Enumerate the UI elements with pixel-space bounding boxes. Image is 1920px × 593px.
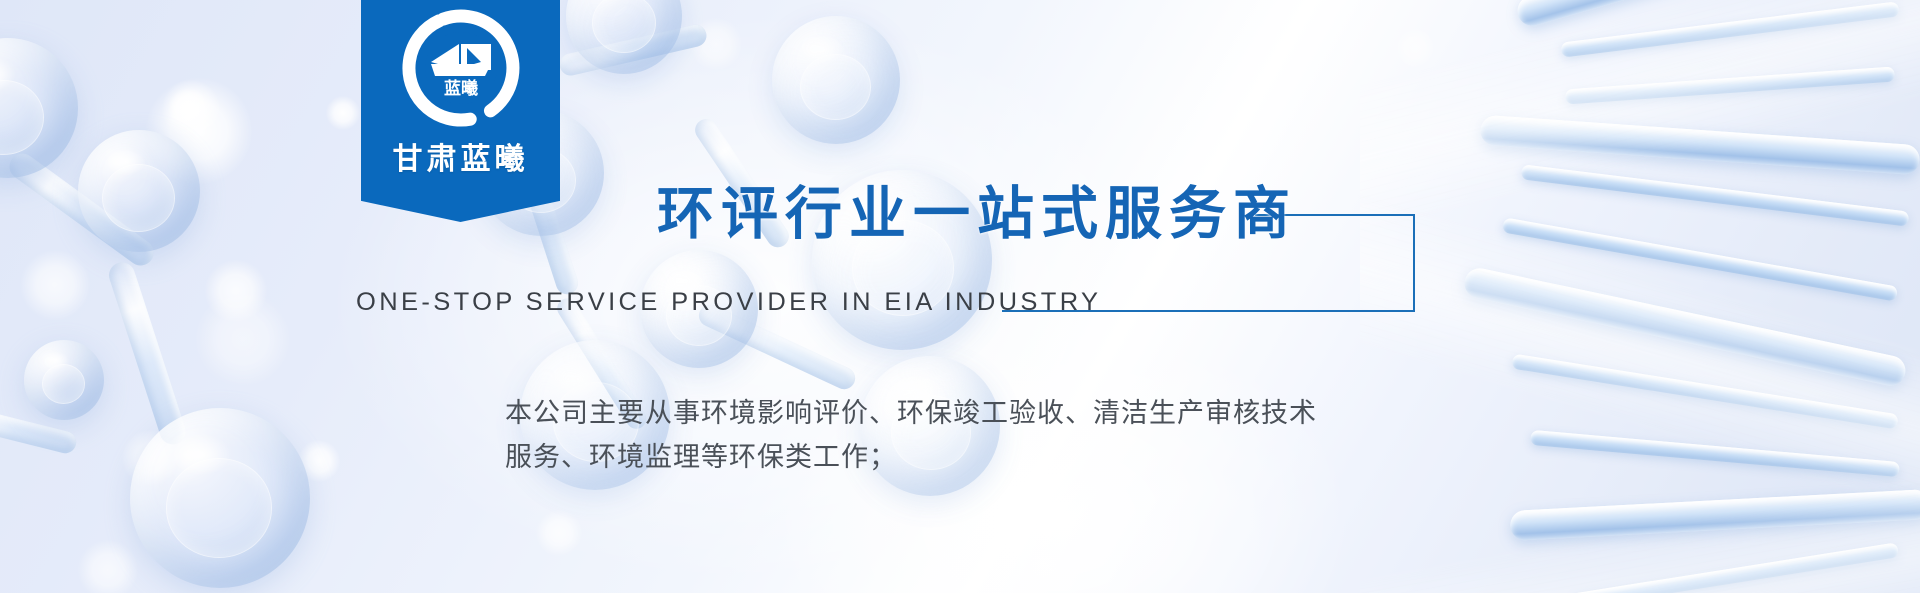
- light-bokeh: [1020, 540, 1068, 588]
- light-bokeh: [1395, 28, 1435, 68]
- light-bokeh: [326, 96, 360, 130]
- hero-body-text: 本公司主要从事环境影响评价、环保竣工验收、清洁生产审核技术 服务、环境监理等环保…: [505, 392, 1465, 479]
- light-bokeh: [162, 80, 220, 138]
- light-bokeh: [168, 88, 208, 128]
- light-bokeh: [205, 260, 267, 322]
- glass-molecule: [24, 340, 104, 420]
- light-bokeh: [298, 440, 340, 482]
- light-bokeh: [536, 510, 582, 556]
- hero-body-line: 本公司主要从事环境影响评价、环保竣工验收、清洁生产审核技术: [505, 392, 1465, 436]
- company-name: 甘肃蓝曦: [393, 134, 529, 178]
- decoration-line-right: [1413, 214, 1415, 312]
- hero-banner: 蓝曦 甘肃蓝曦 环评行业一站式服务商 ONE-STOP SERVICE PROV…: [0, 0, 1920, 593]
- light-bokeh: [20, 250, 90, 320]
- light-bokeh: [690, 18, 742, 70]
- molecule-bond: [558, 23, 709, 78]
- glass-molecule: [566, 0, 682, 74]
- light-bokeh: [196, 292, 290, 386]
- emblem-text: 蓝曦: [444, 78, 478, 99]
- glass-molecule: [772, 16, 900, 144]
- light-bokeh: [78, 540, 138, 593]
- lanxi-emblem-icon: 蓝曦: [401, 8, 521, 128]
- hero-subheadline-en: ONE-STOP SERVICE PROVIDER IN EIA INDUSTR…: [356, 288, 1101, 317]
- dna-helix: [1360, 0, 1920, 593]
- hero-body-line: 服务、环境监理等环保类工作；: [505, 436, 1465, 480]
- molecule-bond: [106, 259, 189, 448]
- light-bokeh: [146, 78, 252, 184]
- molecule-bond: [0, 400, 79, 455]
- hero-headline: 环评行业一站式服务商: [657, 168, 1297, 250]
- logo-flag[interactable]: 蓝曦 甘肃蓝曦: [361, 0, 560, 222]
- glass-molecule: [130, 408, 310, 588]
- molecule-bond: [4, 148, 158, 270]
- glass-molecule: [78, 130, 200, 252]
- light-bokeh: [122, 430, 178, 486]
- glass-molecule: [0, 38, 78, 178]
